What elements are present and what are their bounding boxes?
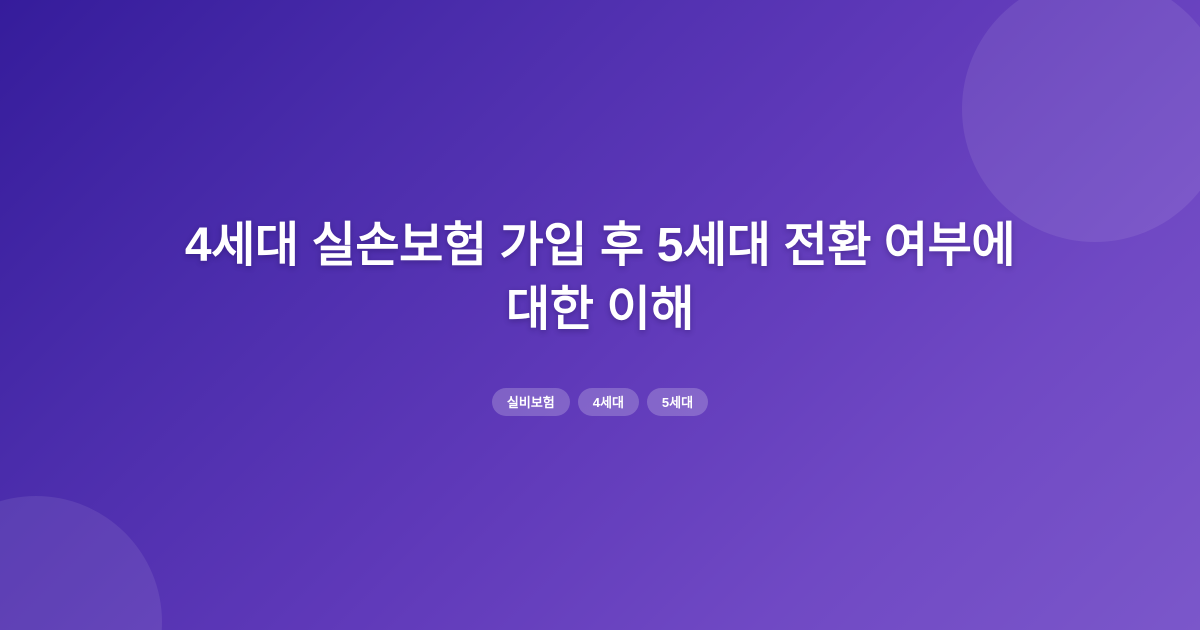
tag-item[interactable]: 실비보험 <box>492 388 570 416</box>
page-title: 4세대 실손보험 가입 후 5세대 전환 여부에 대한 이해 <box>140 214 1060 343</box>
card-content: 4세대 실손보험 가입 후 5세대 전환 여부에 대한 이해 실비보험 4세대 … <box>0 0 1200 630</box>
tag-list: 실비보험 4세대 5세대 <box>492 388 708 416</box>
tag-item[interactable]: 4세대 <box>578 388 639 416</box>
og-card: 4세대 실손보험 가입 후 5세대 전환 여부에 대한 이해 실비보험 4세대 … <box>0 0 1200 630</box>
tag-item[interactable]: 5세대 <box>647 388 708 416</box>
